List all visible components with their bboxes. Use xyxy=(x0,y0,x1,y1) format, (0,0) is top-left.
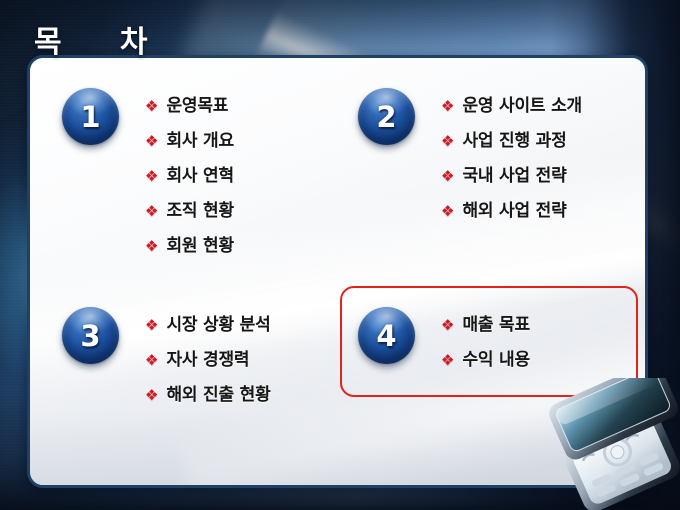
list-item[interactable]: ❖ 매출 목표 xyxy=(441,310,530,335)
diamond-bullet-icon: ❖ xyxy=(145,169,158,184)
list-item[interactable]: ❖ 수익 내용 xyxy=(441,345,530,370)
toc-section-1[interactable]: 1 ❖ 운영목표 ❖ 회사 개요 ❖ 회사 연혁 ❖ 조직 현황 xyxy=(62,88,234,256)
section-number-4: 4 xyxy=(376,322,396,351)
list-item[interactable]: ❖ 회사 개요 xyxy=(145,126,234,151)
diamond-bullet-icon: ❖ xyxy=(145,318,158,333)
section-number-1: 1 xyxy=(80,103,100,132)
list-item[interactable]: ❖ 해외 사업 전략 xyxy=(441,196,582,221)
list-item[interactable]: ❖ 시장 상황 분석 xyxy=(145,310,271,335)
list-item-label: 수익 내용 xyxy=(462,345,529,370)
list-item-label: 매출 목표 xyxy=(462,310,529,335)
list-item-label: 사업 진행 과정 xyxy=(462,126,566,151)
diamond-bullet-icon: ❖ xyxy=(145,353,158,368)
diamond-bullet-icon: ❖ xyxy=(441,169,454,184)
list-item-label: 회사 개요 xyxy=(166,126,233,151)
section-number-badge-3: 3 xyxy=(62,307,119,364)
toc-section-3[interactable]: 3 ❖ 시장 상황 분석 ❖ 자사 경쟁력 ❖ 해외 진출 현황 xyxy=(62,307,271,405)
diamond-bullet-icon: ❖ xyxy=(441,99,454,114)
diamond-bullet-icon: ❖ xyxy=(441,318,454,333)
list-item[interactable]: ❖ 회사 연혁 xyxy=(145,161,234,186)
list-item-label: 회원 현황 xyxy=(166,231,233,256)
section-number-3: 3 xyxy=(80,322,100,351)
list-item-label: 해외 진출 현황 xyxy=(166,380,270,405)
list-item[interactable]: ❖ 운영목표 xyxy=(145,91,234,116)
toc-section-2[interactable]: 2 ❖ 운영 사이트 소개 ❖ 사업 진행 과정 ❖ 국내 사업 전략 ❖ 해외… xyxy=(358,88,582,221)
diamond-bullet-icon: ❖ xyxy=(145,134,158,149)
list-item[interactable]: ❖ 국내 사업 전략 xyxy=(441,161,582,186)
section-item-list-2: ❖ 운영 사이트 소개 ❖ 사업 진행 과정 ❖ 국내 사업 전략 ❖ 해외 사… xyxy=(441,88,582,221)
list-item-label: 조직 현황 xyxy=(166,196,233,221)
list-item-label: 국내 사업 전략 xyxy=(462,161,566,186)
mobile-phone-icon xyxy=(548,378,680,510)
list-item-label: 자사 경쟁력 xyxy=(166,345,249,370)
section-number-2: 2 xyxy=(376,103,396,132)
diamond-bullet-icon: ❖ xyxy=(145,99,158,114)
list-item[interactable]: ❖ 해외 진출 현황 xyxy=(145,380,271,405)
diamond-bullet-icon: ❖ xyxy=(441,204,454,219)
presentation-slide: 목 차 1 ❖ 운영목표 ❖ 회사 개요 ❖ xyxy=(0,0,680,510)
list-item-label: 운영목표 xyxy=(166,91,228,116)
diamond-bullet-icon: ❖ xyxy=(145,204,158,219)
diamond-bullet-icon: ❖ xyxy=(441,353,454,368)
section-number-badge-2: 2 xyxy=(358,88,415,145)
list-item-label: 회사 연혁 xyxy=(166,161,233,186)
list-item[interactable]: ❖ 운영 사이트 소개 xyxy=(441,91,582,116)
diamond-bullet-icon: ❖ xyxy=(145,239,158,254)
list-item-label: 운영 사이트 소개 xyxy=(462,91,582,116)
list-item[interactable]: ❖ 회원 현황 xyxy=(145,231,234,256)
section-item-list-4: ❖ 매출 목표 ❖ 수익 내용 xyxy=(441,307,530,370)
list-item[interactable]: ❖ 조직 현황 xyxy=(145,196,234,221)
section-number-badge-1: 1 xyxy=(62,88,119,145)
diamond-bullet-icon: ❖ xyxy=(145,388,158,403)
toc-section-4[interactable]: 4 ❖ 매출 목표 ❖ 수익 내용 xyxy=(358,307,530,370)
list-item-label: 해외 사업 전략 xyxy=(462,196,566,221)
section-item-list-1: ❖ 운영목표 ❖ 회사 개요 ❖ 회사 연혁 ❖ 조직 현황 ❖ 회원 현황 xyxy=(145,88,234,256)
list-item-label: 시장 상황 분석 xyxy=(166,310,270,335)
section-number-badge-4: 4 xyxy=(358,307,415,364)
list-item[interactable]: ❖ 사업 진행 과정 xyxy=(441,126,582,151)
list-item[interactable]: ❖ 자사 경쟁력 xyxy=(145,345,271,370)
section-item-list-3: ❖ 시장 상황 분석 ❖ 자사 경쟁력 ❖ 해외 진출 현황 xyxy=(145,307,271,405)
diamond-bullet-icon: ❖ xyxy=(441,134,454,149)
page-title: 목 차 xyxy=(34,17,148,61)
